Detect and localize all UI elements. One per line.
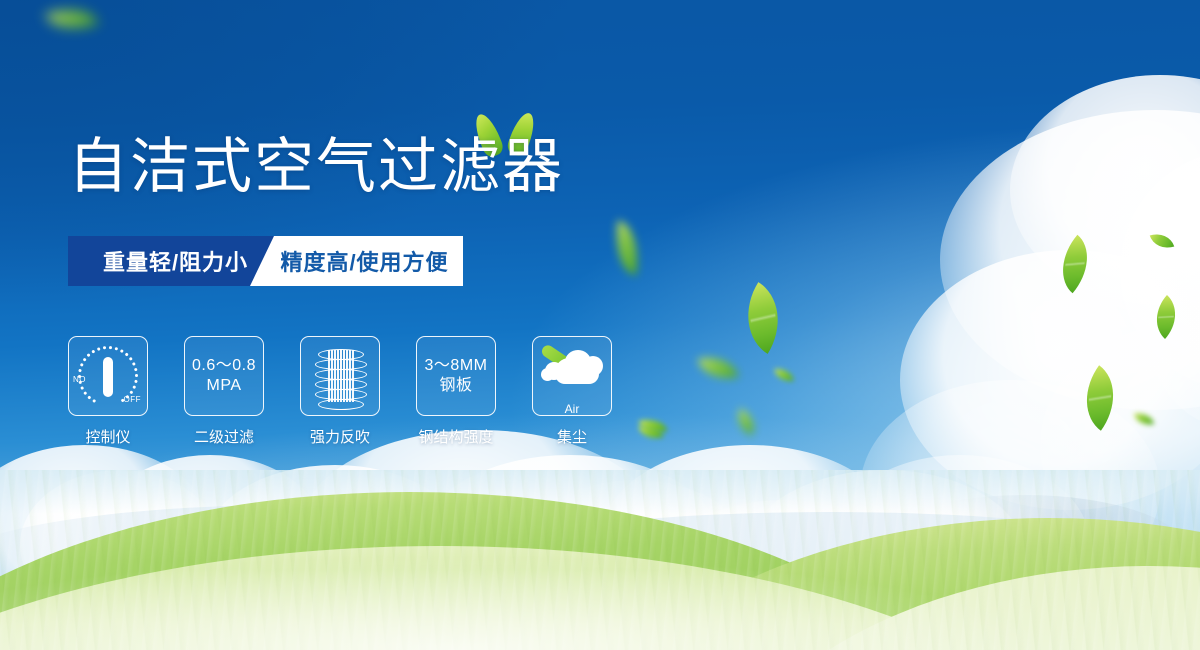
filter-cartridge-icon (312, 347, 368, 405)
gauge-dot (86, 353, 91, 358)
cloud-body (555, 358, 599, 384)
cartridge-rib (337, 350, 339, 402)
subtitle-right-panel: 精度高/使用方便 (250, 236, 463, 286)
feature-label: 钢结构强度 (418, 426, 493, 447)
feature-label: 集尘 (557, 426, 587, 447)
gauge-dot (120, 349, 125, 354)
subtitle-right-text: 精度高/使用方便 (264, 245, 448, 277)
feature-label: 二级过滤 (194, 426, 254, 447)
air-caption: Air (541, 402, 603, 416)
pressure-text-icon: 0.6～0.8 MPA (192, 356, 256, 396)
pressure-line-2: MPA (192, 376, 256, 396)
subtitle-bar: 重量轻/阻力小 精度高/使用方便 (68, 236, 463, 286)
cartridge-rib (331, 350, 333, 402)
gauge-dot (91, 349, 96, 354)
subtitle-left-text: 重量轻/阻力小 (103, 245, 248, 277)
feature-item-controller[interactable]: NO OFF 控制仪 (68, 336, 148, 447)
gauge-on-label: NO (73, 375, 86, 384)
cloud-lobe (541, 368, 554, 381)
gauge-dot (135, 374, 138, 377)
feature-icon-box: NO OFF (68, 336, 148, 416)
cartridge-rib (346, 350, 348, 402)
gauge-needle (103, 357, 113, 397)
cartridge-rib (352, 350, 354, 402)
gauge-dot (78, 368, 82, 372)
cloud-air-icon: Air (541, 348, 603, 404)
cartridge-rib (334, 350, 336, 402)
steel-line-1: 3～8MM (425, 356, 488, 376)
gauge-off-label: OFF (124, 395, 142, 404)
product-banner: 自洁式空气过滤器 重量轻/阻力小 精度高/使用方便 NO OFF 控制仪 (0, 0, 1200, 650)
page-title: 自洁式空气过滤器 (68, 137, 564, 197)
feature-icon-box: Air (532, 336, 612, 416)
cartridge-rib (340, 350, 342, 402)
feature-item-backblow[interactable]: 强力反吹 (300, 336, 380, 447)
gauge-dial-icon: NO OFF (77, 345, 139, 407)
feature-item-secondary-filter[interactable]: 0.6～0.8 MPA 二级过滤 (184, 336, 264, 447)
gauge-dot (97, 347, 101, 351)
gauge-dot (134, 368, 138, 372)
gauge-dot (134, 380, 138, 384)
steel-plate-text-icon: 3～8MM 钢板 (425, 356, 488, 396)
feature-icon-box: 0.6～0.8 MPA (184, 336, 264, 416)
gauge-dot (80, 363, 84, 367)
cartridge-rib (349, 350, 351, 402)
gauge-dot (92, 398, 97, 403)
feature-icon-box (300, 336, 380, 416)
gauge-dot (128, 357, 133, 362)
gauge-dot (109, 346, 113, 350)
gauge-dot (132, 385, 136, 389)
gauge-dot (103, 346, 107, 350)
feature-label: 强力反吹 (310, 426, 370, 447)
feature-item-steel-strength[interactable]: 3～8MM 钢板 钢结构强度 (416, 336, 496, 447)
feature-label: 控制仪 (85, 426, 130, 447)
gauge-dot (80, 386, 84, 390)
gauge-dot (124, 352, 129, 357)
gauge-dot (83, 391, 88, 396)
gauge-dot (87, 395, 92, 400)
gauge-dot (83, 357, 88, 362)
floating-leaf (774, 367, 793, 383)
feature-item-dust-collection[interactable]: Air 集尘 (532, 336, 612, 447)
gauge-dot (131, 362, 135, 366)
subtitle-left-panel: 重量轻/阻力小 (68, 236, 283, 286)
cartridge-rib (343, 350, 345, 402)
grass-field (0, 470, 1200, 650)
feature-icon-box: 3～8MM 钢板 (416, 336, 496, 416)
steel-line-2: 钢板 (425, 376, 488, 396)
feature-list: NO OFF 控制仪 0.6～0.8 MPA 二级过滤 强力反吹 (68, 336, 612, 447)
grass-highlight (0, 530, 1200, 650)
gauge-dot (114, 347, 118, 351)
cartridge-rib (328, 350, 330, 402)
pressure-line-1: 0.6～0.8 (192, 356, 256, 376)
